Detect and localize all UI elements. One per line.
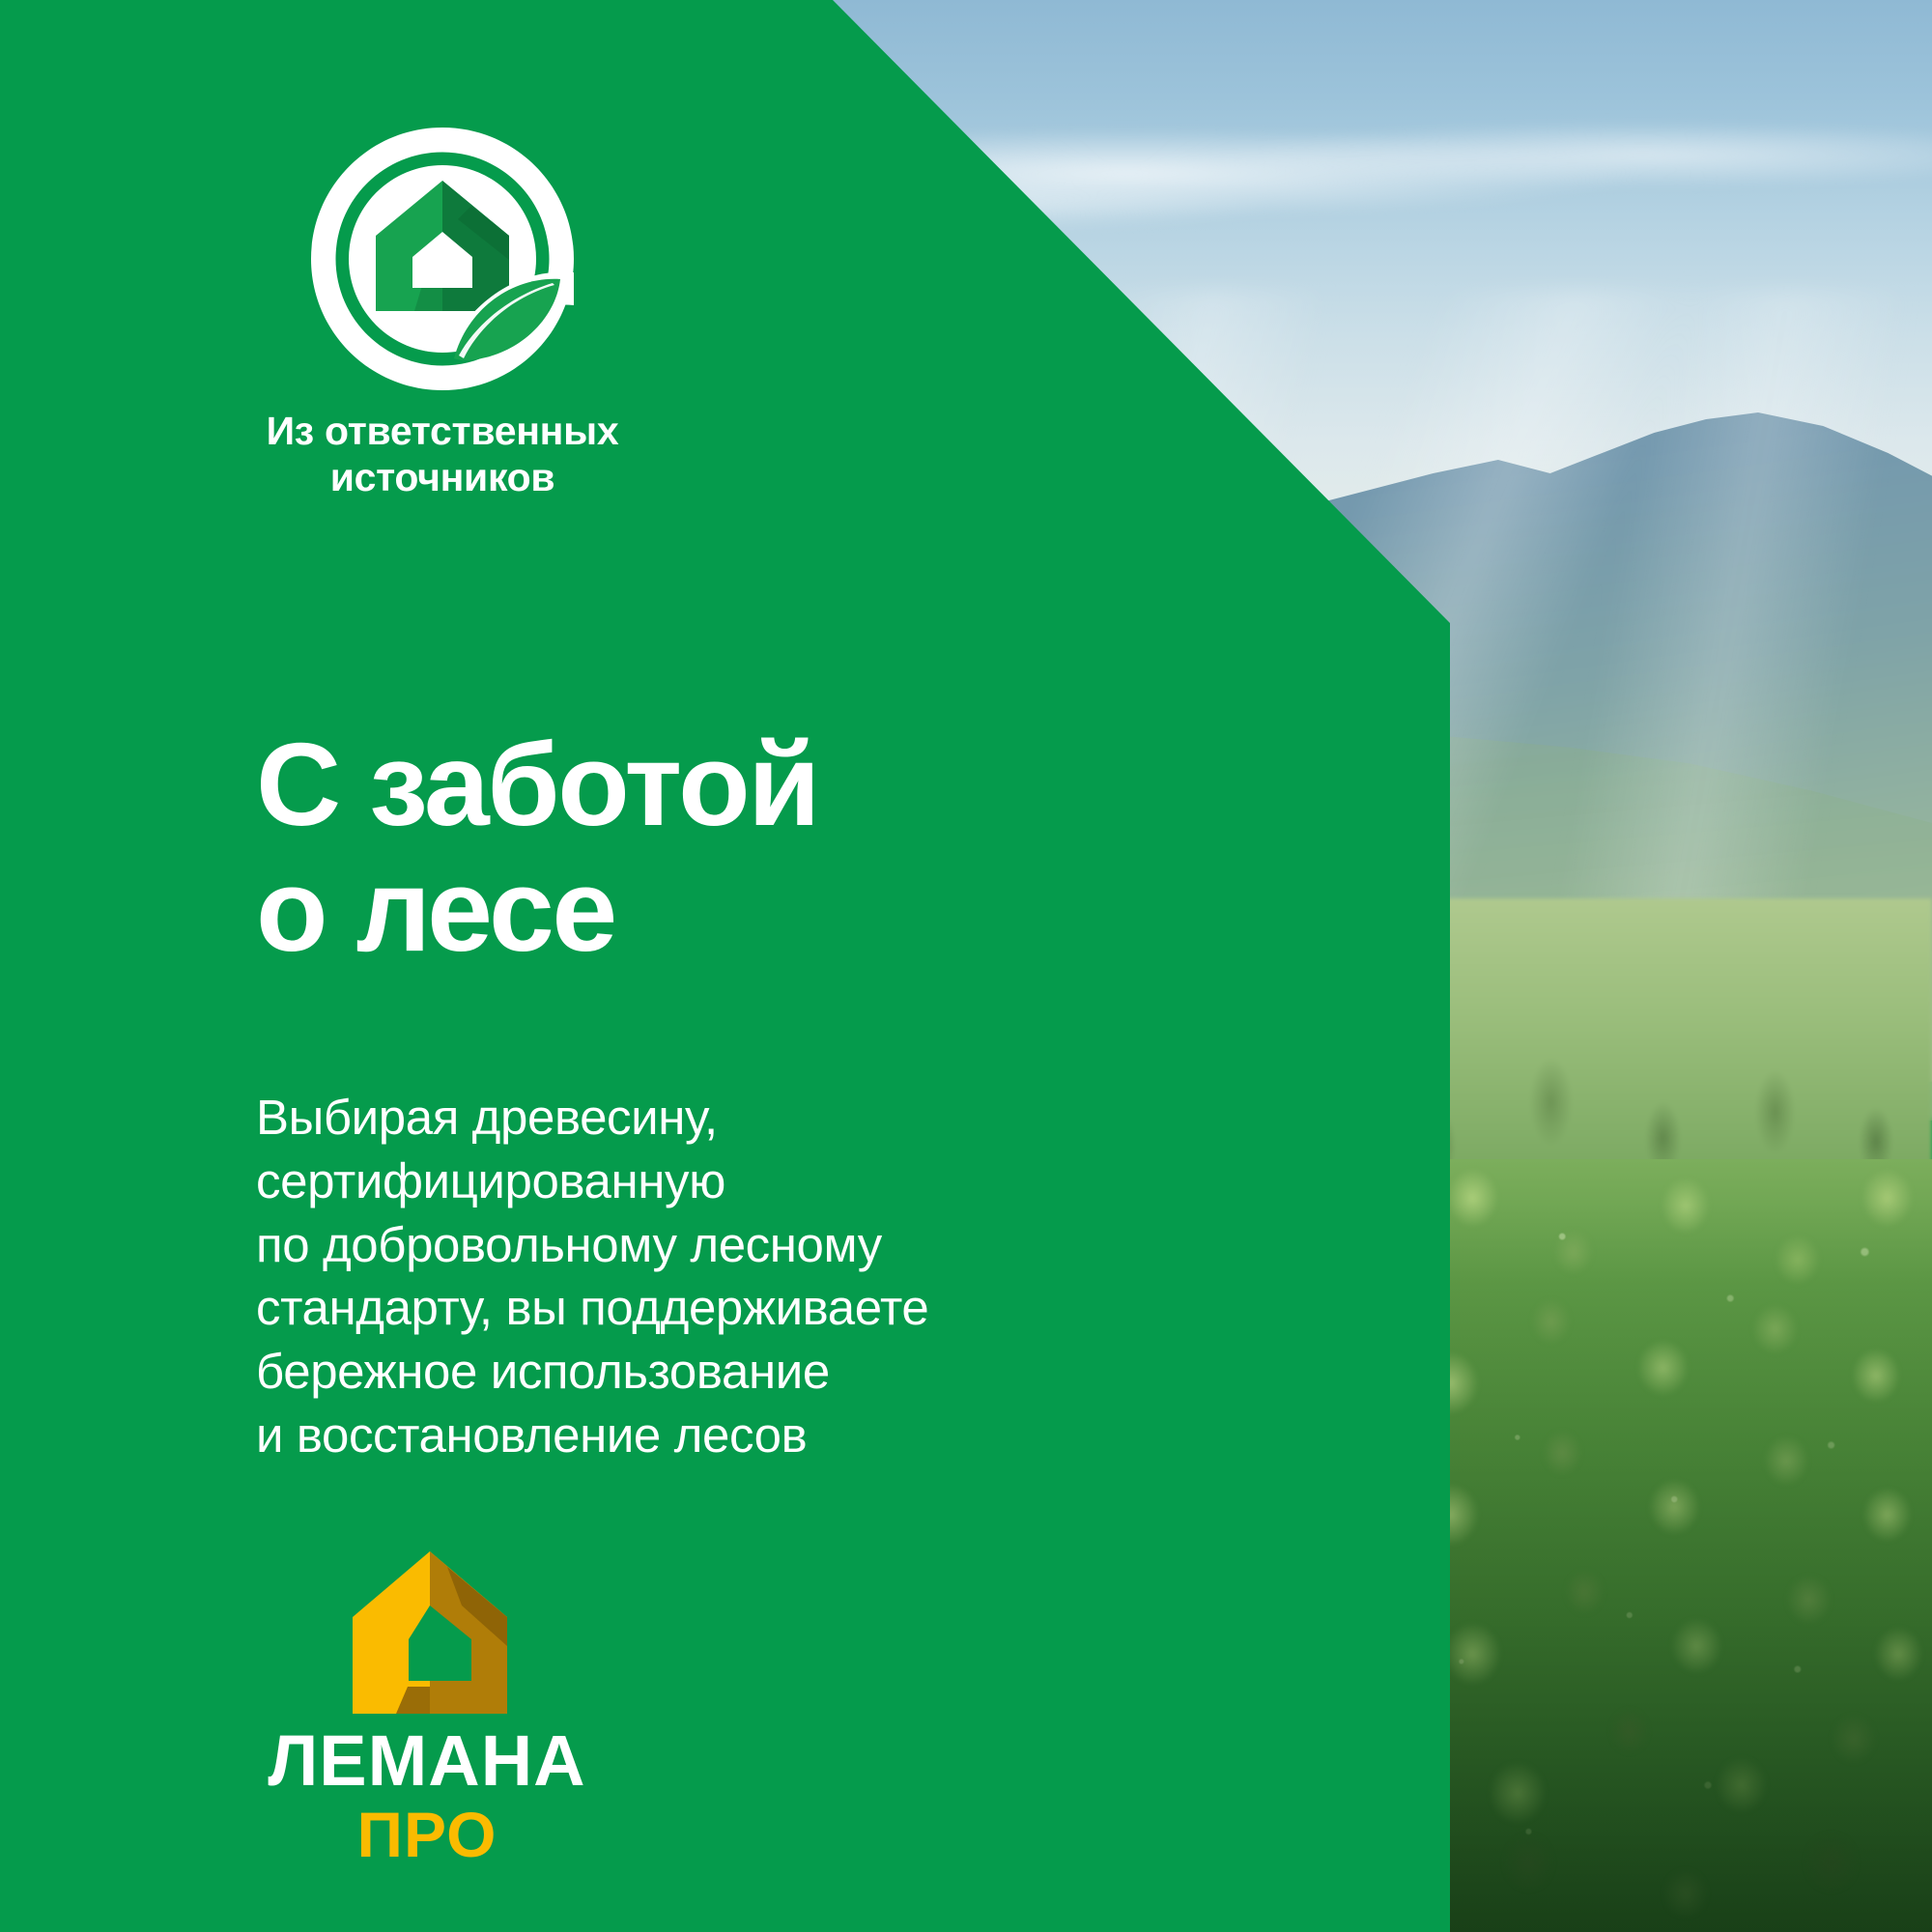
poster-content: Из ответственных источников С заботой о … — [0, 0, 1450, 1932]
brand-name-line-1: ЛЕМАНА — [268, 1725, 585, 1801]
eco-house-leaf-circle-icon — [311, 128, 574, 390]
brand-name-line-2: ПРО — [357, 1799, 497, 1870]
body-paragraph: Выбирая древесину, сертифицированную по … — [256, 1086, 990, 1467]
brand-lockup: ЛЕМАНА ПРО — [253, 1546, 639, 1880]
responsible-sourcing-badge-label: Из ответственных источников — [253, 408, 632, 501]
page-title: С заботой о лесе — [256, 722, 818, 974]
lemana-pro-wordmark: ЛЕМАНА ПРО — [253, 1725, 601, 1880]
responsible-sourcing-badge: Из ответственных источников — [253, 128, 632, 501]
poster-canvas: Из ответственных источников С заботой о … — [0, 0, 1932, 1932]
lemana-pro-house-icon — [348, 1546, 512, 1719]
